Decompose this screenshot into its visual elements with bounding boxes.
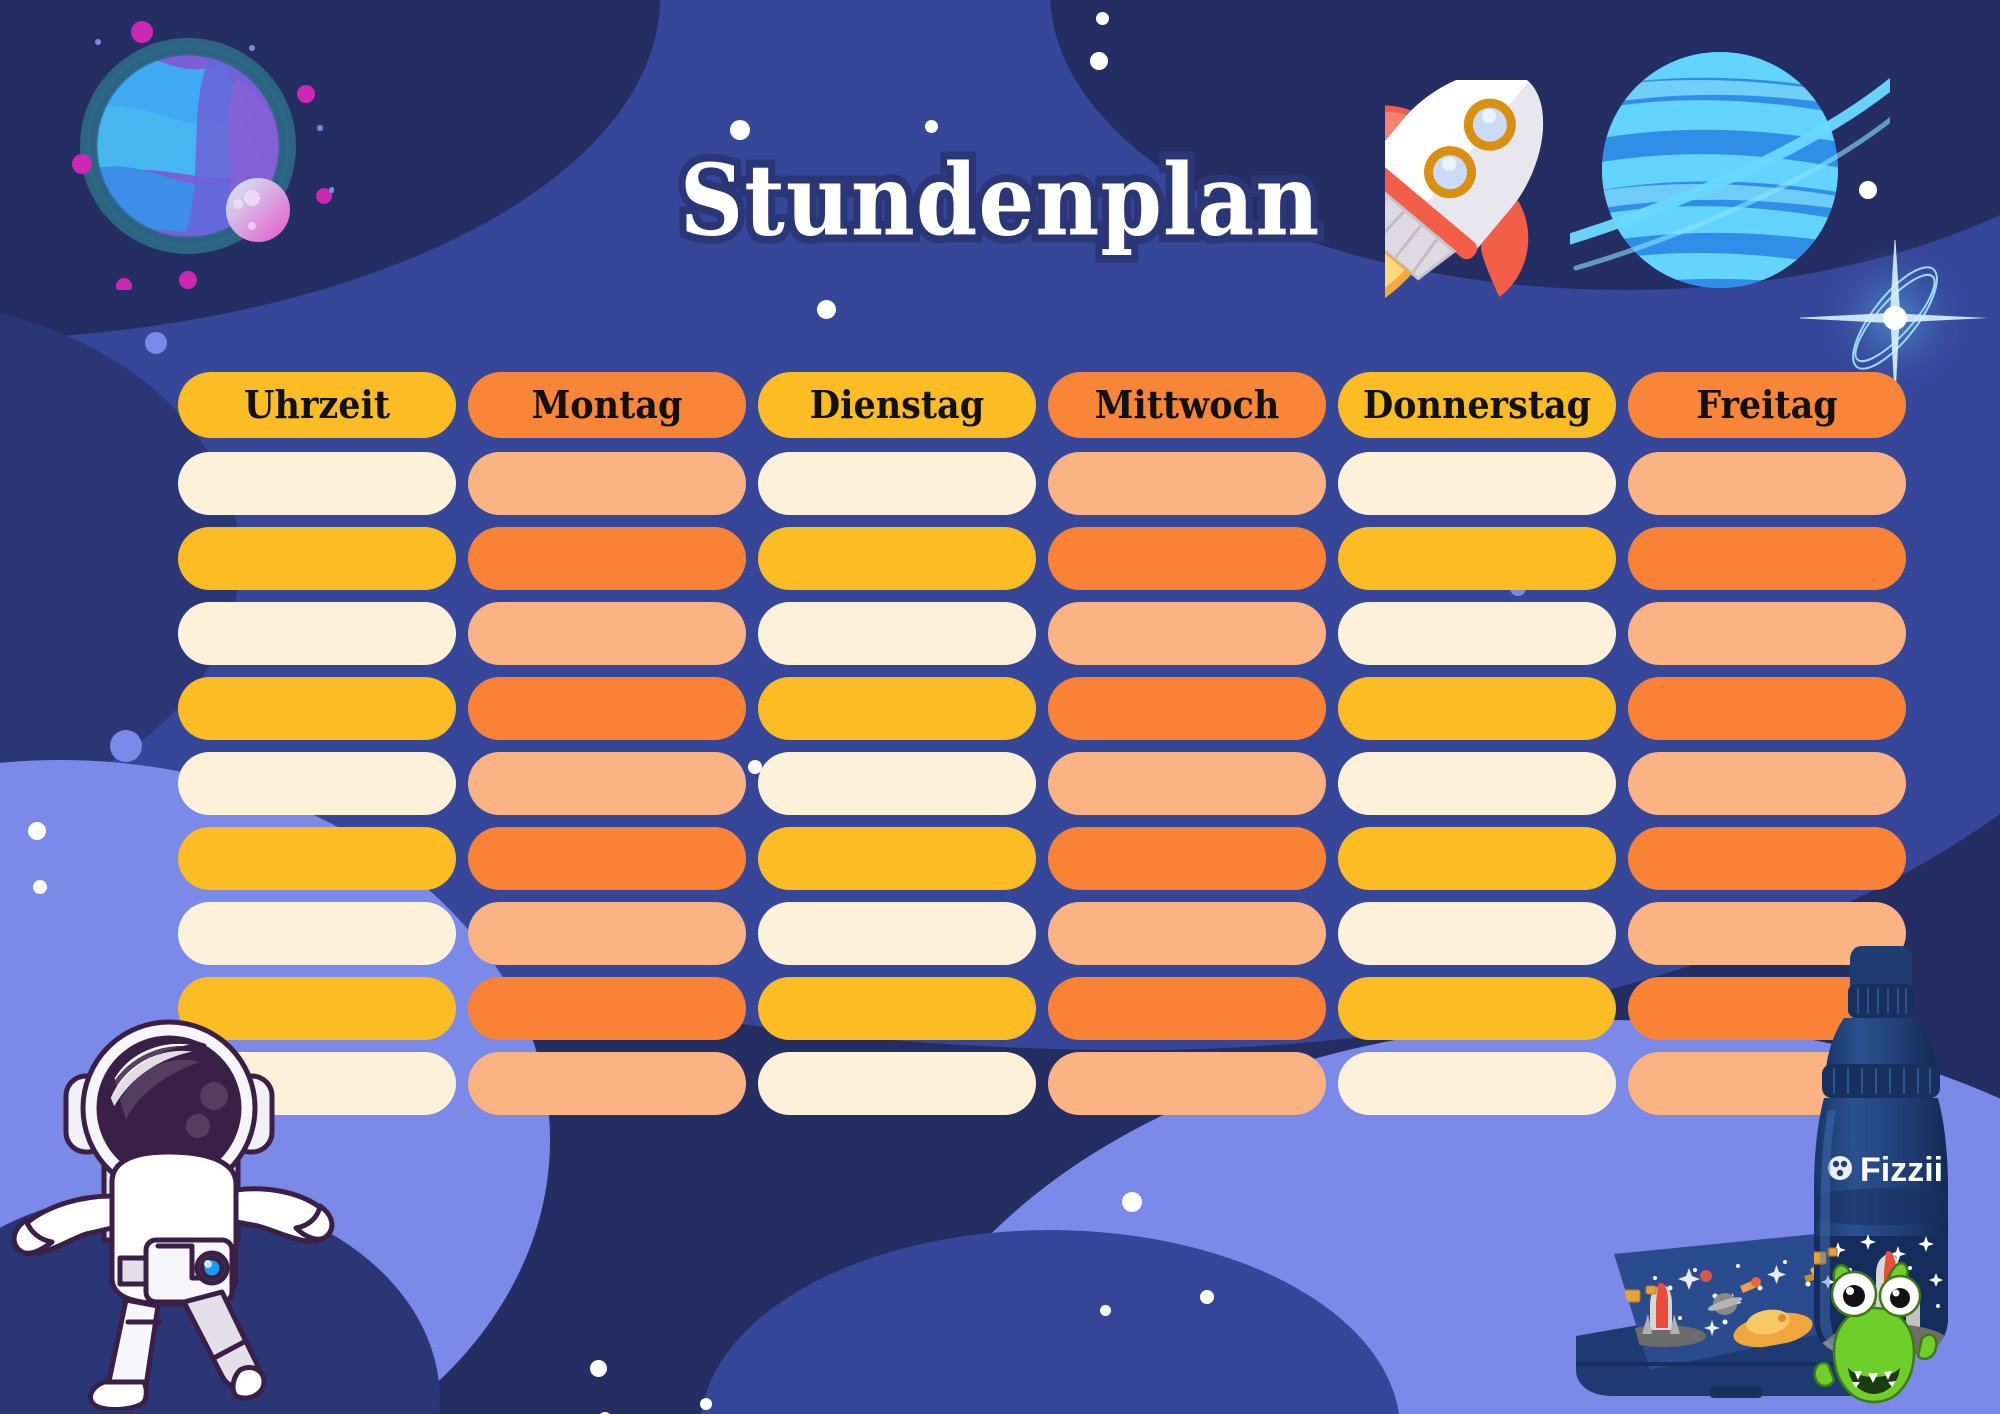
timetable-cell-dienstag-9[interactable]	[758, 1052, 1036, 1115]
star-dot	[925, 120, 938, 133]
timetable-cell-donnerstag-1[interactable]	[1338, 452, 1616, 515]
column-header-label: Mittwoch	[1095, 382, 1280, 427]
timetable-cell-montag-7[interactable]	[468, 902, 746, 965]
timetable-cell-montag-9[interactable]	[468, 1052, 746, 1115]
timetable-row	[178, 527, 1878, 590]
star-dot	[817, 300, 836, 319]
star-dot	[1122, 1192, 1142, 1212]
column-header-freitag[interactable]: Freitag	[1628, 372, 1906, 438]
column-header-label: Dienstag	[810, 382, 984, 427]
column-header-dienstag[interactable]: Dienstag	[758, 372, 1036, 438]
timetable-cell-montag-3[interactable]	[468, 602, 746, 665]
timetable-cell-donnerstag-5[interactable]	[1338, 752, 1616, 815]
timetable-cell-dienstag-6[interactable]	[758, 827, 1036, 890]
star-dot	[590, 1360, 607, 1377]
timetable-row	[178, 602, 1878, 665]
timetable-row	[178, 977, 1878, 1040]
timetable-cell-freitag-5[interactable]	[1628, 752, 1906, 815]
timetable-cell-dienstag-5[interactable]	[758, 752, 1036, 815]
timetable-cell-donnerstag-2[interactable]	[1338, 527, 1616, 590]
star-dot	[1200, 1290, 1214, 1304]
timetable-cell-montag-4[interactable]	[468, 677, 746, 740]
star-dot-periwinkle	[110, 730, 142, 762]
timetable-row	[178, 452, 1878, 515]
column-header-montag[interactable]: Montag	[468, 372, 746, 438]
column-header-label: Freitag	[1696, 382, 1838, 427]
timetable-cell-uhrzeit-6[interactable]	[178, 827, 456, 890]
star-dot	[28, 822, 46, 840]
timetable-cell-freitag-4[interactable]	[1628, 677, 1906, 740]
star-dot	[1100, 1305, 1111, 1316]
page-title-wrapper: Stundenplan	[0, 148, 2000, 252]
timetable-cell-mittwoch-3[interactable]	[1048, 602, 1326, 665]
timetable-row	[178, 752, 1878, 815]
timetable-cell-donnerstag-7[interactable]	[1338, 902, 1616, 965]
timetable-header-row: Uhrzeit Montag Dienstag Mittwoch Donners…	[178, 372, 1878, 438]
timetable-cell-mittwoch-8[interactable]	[1048, 977, 1326, 1040]
timetable-cell-freitag-6[interactable]	[1628, 827, 1906, 890]
timetable-cell-donnerstag-6[interactable]	[1338, 827, 1616, 890]
star-dot	[700, 1398, 712, 1410]
timetable-cell-dienstag-3[interactable]	[758, 602, 1036, 665]
timetable-row	[178, 827, 1878, 890]
timetable-cell-montag-8[interactable]	[468, 977, 746, 1040]
column-header-uhrzeit[interactable]: Uhrzeit	[178, 372, 456, 438]
timetable-cell-mittwoch-4[interactable]	[1048, 677, 1326, 740]
column-header-label: Donnerstag	[1363, 382, 1591, 427]
timetable-cell-montag-1[interactable]	[468, 452, 746, 515]
timetable-row	[178, 902, 1878, 965]
star-dot	[1090, 52, 1108, 70]
timetable-cell-mittwoch-9[interactable]	[1048, 1052, 1326, 1115]
alien-icon	[1810, 1252, 1940, 1412]
timetable-cell-freitag-3[interactable]	[1628, 602, 1906, 665]
bottle-brand-label: Fizzii	[1860, 1151, 1943, 1189]
timetable-cell-dienstag-8[interactable]	[758, 977, 1036, 1040]
timetable-cell-mittwoch-6[interactable]	[1048, 827, 1326, 890]
timetable-cell-montag-5[interactable]	[468, 752, 746, 815]
star-dot-periwinkle	[145, 332, 167, 354]
column-header-label: Uhrzeit	[244, 382, 390, 427]
timetable-cell-dienstag-7[interactable]	[758, 902, 1036, 965]
timetable-cell-mittwoch-1[interactable]	[1048, 452, 1326, 515]
timetable-cell-donnerstag-8[interactable]	[1338, 977, 1616, 1040]
timetable-cell-dienstag-2[interactable]	[758, 527, 1036, 590]
page-title: Stundenplan	[680, 142, 1321, 258]
timetable-cell-montag-2[interactable]	[468, 527, 746, 590]
timetable-cell-dienstag-4[interactable]	[758, 677, 1036, 740]
timetable: Uhrzeit Montag Dienstag Mittwoch Donners…	[178, 372, 1878, 1127]
timetable-cell-uhrzeit-4[interactable]	[178, 677, 456, 740]
timetable-cell-donnerstag-3[interactable]	[1338, 602, 1616, 665]
timetable-cell-uhrzeit-5[interactable]	[178, 752, 456, 815]
poster-canvas: Uhrzeit Montag Dienstag Mittwoch Donners…	[0, 0, 2000, 1414]
timetable-cell-mittwoch-5[interactable]	[1048, 752, 1326, 815]
timetable-cell-uhrzeit-1[interactable]	[178, 452, 456, 515]
timetable-cell-freitag-1[interactable]	[1628, 452, 1906, 515]
timetable-cell-montag-6[interactable]	[468, 827, 746, 890]
column-header-donnerstag[interactable]: Donnerstag	[1338, 372, 1616, 438]
astronaut-icon	[8, 990, 338, 1410]
timetable-cell-freitag-2[interactable]	[1628, 527, 1906, 590]
timetable-cell-mittwoch-7[interactable]	[1048, 902, 1326, 965]
timetable-cell-donnerstag-9[interactable]	[1338, 1052, 1616, 1115]
column-header-mittwoch[interactable]: Mittwoch	[1048, 372, 1326, 438]
timetable-cell-mittwoch-2[interactable]	[1048, 527, 1326, 590]
column-header-label: Montag	[532, 382, 683, 427]
timetable-cell-uhrzeit-7[interactable]	[178, 902, 456, 965]
timetable-cell-donnerstag-4[interactable]	[1338, 677, 1616, 740]
timetable-cell-uhrzeit-2[interactable]	[178, 527, 456, 590]
star-dot	[1096, 12, 1109, 25]
timetable-row	[178, 677, 1878, 740]
star-dot	[730, 120, 750, 140]
star-dot	[33, 880, 47, 894]
timetable-cell-uhrzeit-3[interactable]	[178, 602, 456, 665]
timetable-row	[178, 1052, 1878, 1115]
timetable-cell-dienstag-1[interactable]	[758, 452, 1036, 515]
